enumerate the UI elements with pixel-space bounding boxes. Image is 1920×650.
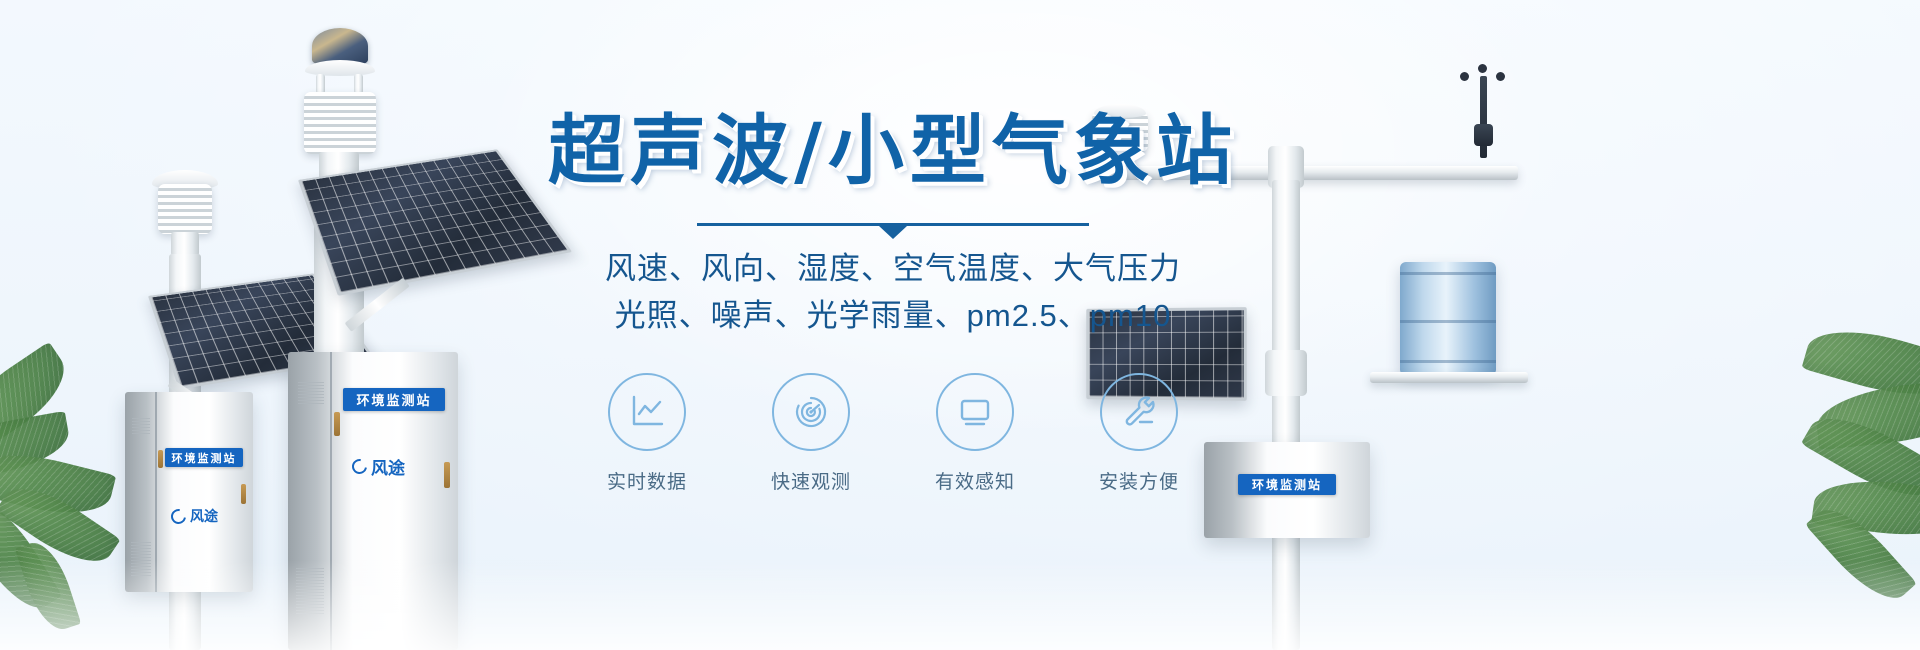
cabinet-brand: 风途 bbox=[171, 506, 218, 526]
brand-mark-icon bbox=[168, 506, 189, 527]
radiation-shield bbox=[158, 184, 212, 234]
wrench-icon bbox=[1100, 373, 1178, 451]
cabinet-label: 环境监测站 bbox=[165, 448, 243, 467]
rain-gauge bbox=[1400, 262, 1496, 374]
cabinet-brand: 风途 bbox=[352, 454, 405, 479]
ground-haze bbox=[0, 560, 1920, 650]
anemometer bbox=[1458, 64, 1512, 168]
ultrasonic-sensor-dome bbox=[312, 28, 368, 64]
subtitle-line-1: 风速、风向、湿度、空气温度、大气压力 bbox=[528, 245, 1258, 292]
feature-item-realtime-data[interactable]: 实时数据 bbox=[591, 373, 703, 494]
feature-item-effective-sensing[interactable]: 有效感知 bbox=[919, 373, 1031, 494]
divider-caret-icon bbox=[879, 226, 907, 239]
radiation-shield bbox=[304, 92, 376, 154]
feature-label: 安装方便 bbox=[1083, 467, 1195, 494]
product-banner: 环境监测站 风途 环境监测站 风途 bbox=[0, 0, 1920, 650]
title-divider bbox=[697, 219, 1089, 233]
rain-gauge-shelf bbox=[1370, 372, 1528, 383]
feature-list: 实时数据 快速观测 bbox=[528, 373, 1258, 494]
banner-content: 超声波/小型气象站 风速、风向、湿度、空气温度、大气压力 光照、噪声、光学雨量、… bbox=[528, 108, 1258, 494]
feature-label: 有效感知 bbox=[919, 467, 1031, 494]
feature-item-easy-install[interactable]: 安装方便 bbox=[1083, 373, 1195, 494]
brand-name: 风途 bbox=[371, 454, 405, 479]
brand-mark-icon bbox=[349, 456, 370, 477]
cabinet-label: 环境监测站 bbox=[343, 388, 445, 411]
radar-scan-icon bbox=[772, 373, 850, 451]
brand-name: 风途 bbox=[190, 506, 218, 526]
subtitle-line-2: 光照、噪声、光学雨量、pm2.5、pm10 bbox=[528, 292, 1258, 339]
feature-label: 快速观测 bbox=[755, 467, 867, 494]
feature-item-fast-observation[interactable]: 快速观测 bbox=[755, 373, 867, 494]
line-chart-icon bbox=[608, 373, 686, 451]
feature-label: 实时数据 bbox=[591, 467, 703, 494]
page-title: 超声波/小型气象站 bbox=[528, 108, 1258, 193]
monitor-screen-icon bbox=[936, 373, 1014, 451]
